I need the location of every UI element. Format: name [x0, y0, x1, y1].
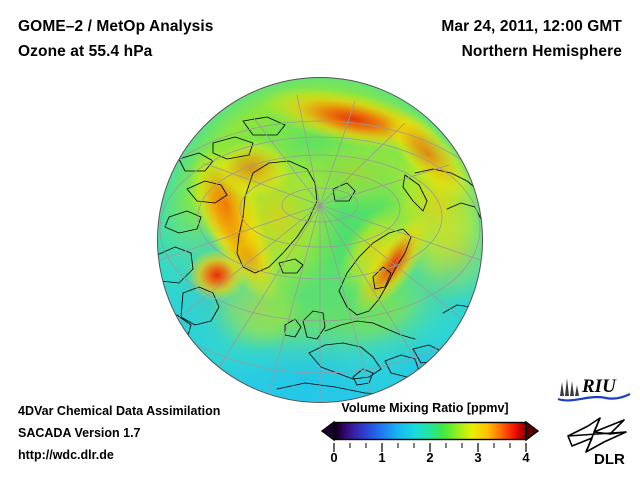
colorbar-tick-labels: 01234: [300, 450, 550, 470]
header-right: Mar 24, 2011, 12:00 GMT Northern Hemisph…: [441, 14, 622, 64]
colorbar-tick-label: 3: [474, 450, 481, 465]
dlr-logo: DLR: [564, 412, 632, 468]
globe-map: [157, 77, 483, 403]
footer-url[interactable]: http://wdc.dlr.de: [18, 444, 220, 466]
logo-block: RIU DLR: [556, 372, 636, 472]
dlr-logo-text: DLR: [594, 451, 625, 468]
title-datetime: Mar 24, 2011, 12:00 GMT: [441, 14, 622, 39]
colorbar-title: Volume Mixing Ratio [ppmv]: [300, 400, 550, 416]
footer-method: 4DVar Chemical Data Assimilation: [18, 400, 220, 422]
title-product: Ozone at 55.4 hPa: [18, 39, 214, 64]
globe-svg: [157, 77, 483, 403]
footer-version: SACADA Version 1.7: [18, 422, 220, 444]
colorbar-tick-label: 0: [330, 450, 337, 465]
colorbar-svg: [300, 420, 550, 442]
colorbar-tick-label: 2: [426, 450, 433, 465]
riu-logo: RIU: [556, 372, 632, 406]
colorbar-gradient: [334, 423, 526, 440]
riu-logo-text: RIU: [581, 376, 617, 397]
title-region: Northern Hemisphere: [441, 39, 622, 64]
colorbar-block: Volume Mixing Ratio [ppmv] 01234: [300, 400, 550, 472]
colorbar-tick-label: 1: [378, 450, 385, 465]
figure-root: GOME–2 / MetOp Analysis Ozone at 55.4 hP…: [0, 0, 640, 480]
header-left: GOME–2 / MetOp Analysis Ozone at 55.4 hP…: [18, 14, 214, 64]
colorbar-bar: [300, 420, 550, 442]
colorbar-extend-high: [526, 422, 538, 440]
title-instrument: GOME–2 / MetOp Analysis: [18, 14, 214, 39]
colorbar-tick-label: 4: [522, 450, 529, 465]
colorbar-extend-low: [322, 422, 334, 440]
dlr-mark-icon: [568, 418, 626, 452]
footer-credits: 4DVar Chemical Data Assimilation SACADA …: [18, 400, 220, 466]
